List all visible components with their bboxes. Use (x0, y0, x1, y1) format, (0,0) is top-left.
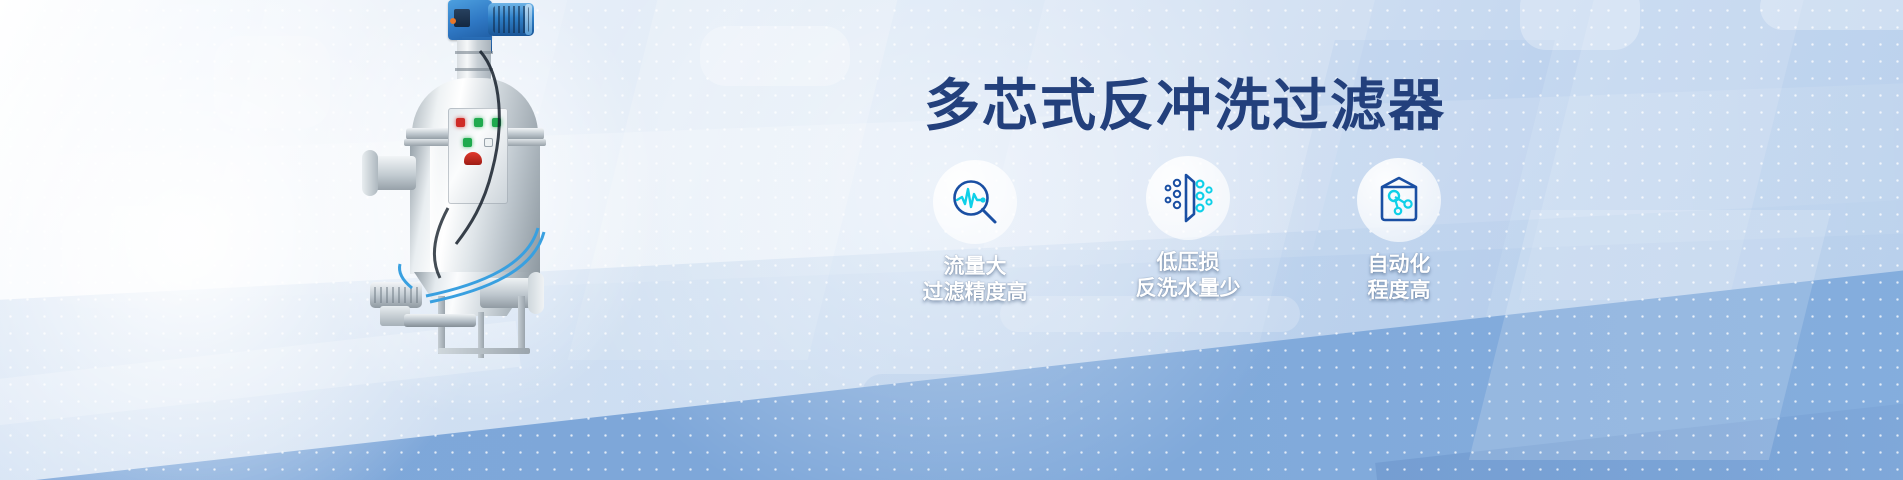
feature-caption-1-line2: 过滤精度高 (923, 281, 1028, 304)
product-image (352, 0, 596, 382)
indicator-lamp-red (456, 118, 465, 127)
motor-indicator (450, 18, 456, 24)
feature-icon-circle-2 (1146, 156, 1230, 240)
feature-caption-2-line2: 反洗水量少 (1136, 277, 1241, 300)
feature-icon-circle-1 (933, 160, 1017, 244)
automation-node-box-icon (1372, 173, 1426, 227)
emergency-stop-button (464, 152, 482, 165)
feature-caption-3: 自动化 程度高 (1304, 252, 1494, 303)
feature-caption-3-line2: 程度高 (1368, 279, 1431, 302)
indicator-lamp-green-2 (492, 118, 501, 127)
feature-item-pressure: 低压损 反洗水量少 (1093, 156, 1283, 301)
base-plate (438, 348, 530, 354)
inlet-flange-face (362, 150, 378, 196)
outlet-flange-face (528, 272, 544, 314)
feature-icon-circle-3 (1357, 158, 1441, 242)
feature-list: 流量大 过滤精度高 (880, 160, 1540, 320)
shaft-band-upper (455, 51, 493, 54)
drain-pipe (404, 314, 476, 327)
feature-caption-2: 低压损 反洗水量少 (1093, 250, 1283, 301)
membrane-particles-icon (1161, 171, 1215, 225)
page-title: 多芯式反冲洗过滤器 (924, 78, 1446, 134)
shaft-band-lower (455, 68, 493, 71)
indicator-lamp-white (484, 138, 493, 147)
feature-caption-1: 流量大 过滤精度高 (880, 254, 1070, 305)
feature-caption-1-line1: 流量大 (944, 255, 1007, 278)
actuator-ribs (374, 287, 418, 303)
magnifier-waveform-icon (948, 175, 1002, 229)
feature-caption-3-line1: 自动化 (1368, 253, 1431, 276)
product-banner: 多芯式反冲洗过滤器 流量大 过滤精度高 (0, 0, 1903, 480)
motor-cooling-fins (493, 6, 529, 33)
support-leg-right (518, 296, 525, 354)
feature-caption-2-line1: 低压损 (1157, 251, 1220, 274)
vessel-highlight (430, 146, 446, 274)
indicator-lamp-green-1 (474, 118, 483, 127)
feature-item-automation: 自动化 程度高 (1304, 158, 1494, 303)
indicator-lamp-green-3 (463, 138, 472, 147)
feature-item-flow: 流量大 过滤精度高 (880, 160, 1070, 305)
